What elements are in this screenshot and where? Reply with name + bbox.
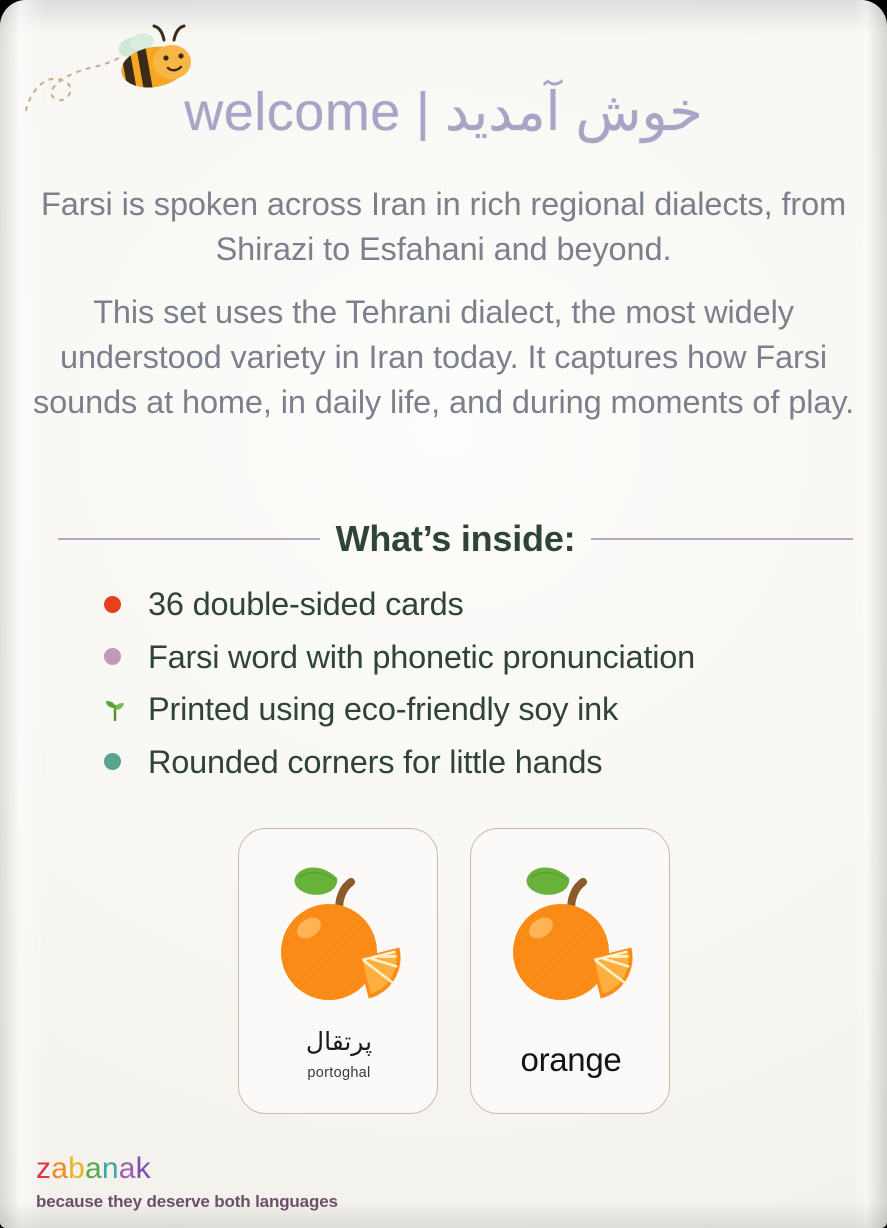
red-dot-icon xyxy=(104,596,148,613)
whats-inside-heading-row: What’s inside: xyxy=(58,518,853,560)
list-item: 36 double-sided cards xyxy=(104,578,864,631)
brand-letter-3: a xyxy=(85,1152,102,1185)
feature-label: 36 double-sided cards xyxy=(148,588,464,621)
page-title: خوش آمدید | welcome xyxy=(0,84,887,141)
mauve-dot-icon xyxy=(104,648,148,665)
whats-inside-title: What’s inside: xyxy=(336,518,576,560)
seedling-icon xyxy=(104,697,148,721)
intro-paragraph-2: This set uses the Tehrani dialect, the m… xyxy=(14,290,873,425)
divider-left xyxy=(58,538,320,540)
brand-letter-6: k xyxy=(136,1152,151,1185)
sample-card-farsi: پرتقال portoghal xyxy=(238,828,438,1114)
feature-label: Printed using eco-friendly soy ink xyxy=(148,693,618,726)
card-word-farsi: پرتقال xyxy=(239,1027,438,1057)
brand-letter-4: n xyxy=(102,1152,119,1185)
intro-text-block: Farsi is spoken across Iran in rich regi… xyxy=(14,182,873,425)
feature-label: Rounded corners for little hands xyxy=(148,746,602,779)
sample-card-english: orange xyxy=(470,828,670,1114)
teal-dot-icon xyxy=(104,753,148,770)
brand-letter-1: a xyxy=(51,1152,68,1185)
list-item: Printed using eco-friendly soy ink xyxy=(104,683,864,736)
welcome-header: خوش آمدید | welcome xyxy=(0,84,887,141)
card-word-english: orange xyxy=(471,1041,670,1079)
brand-block: zabanak because they deserve both langua… xyxy=(36,1154,338,1210)
orange-fruit-illustration-icon xyxy=(471,837,670,1027)
feature-label: Farsi word with phonetic pronunciation xyxy=(148,641,695,674)
card-transliteration: portoghal xyxy=(239,1065,438,1081)
sample-cards-row: پرتقال portoghal xyxy=(238,828,670,1114)
brand-tagline: because they deserve both languages xyxy=(36,1193,338,1210)
brand-letter-2: b xyxy=(68,1152,85,1185)
brand-letter-5: a xyxy=(119,1152,136,1185)
list-item: Farsi word with phonetic pronunciation xyxy=(104,631,864,684)
brand-logo-zabanak: zabanak xyxy=(36,1154,338,1184)
orange-fruit-illustration-icon xyxy=(239,837,438,1027)
divider-right xyxy=(591,538,853,540)
brand-letter-0: z xyxy=(36,1152,51,1185)
product-box-back-panel: خوش آمدید | welcome Farsi is spoken acro… xyxy=(0,0,887,1228)
intro-paragraph-1: Farsi is spoken across Iran in rich regi… xyxy=(14,182,873,272)
list-item: Rounded corners for little hands xyxy=(104,736,864,789)
whats-inside-list: 36 double-sided cards Farsi word with ph… xyxy=(104,578,864,788)
